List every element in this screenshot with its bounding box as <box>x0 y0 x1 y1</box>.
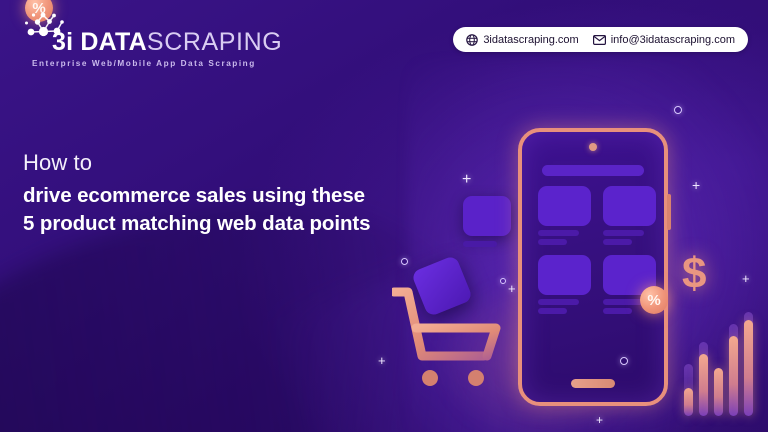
headline-main: drive ecommerce sales using these 5 prod… <box>23 182 463 238</box>
phone-search-bar <box>542 165 644 176</box>
sparkle-plus-icon: + <box>378 354 386 367</box>
contact-website-text: 3idatascraping.com <box>483 34 578 46</box>
brand-tagline: Enterprise Web/Mobile App Data Scraping <box>32 59 256 69</box>
headline-prefix: How to <box>23 148 463 178</box>
shopping-cart-icon <box>392 282 504 405</box>
chart-bar <box>684 388 693 416</box>
chart-bar <box>714 368 723 416</box>
product-title-line <box>538 230 579 236</box>
sparkle-ring-icon <box>674 106 682 114</box>
phone-side-button <box>667 194 671 230</box>
product-thumb <box>538 255 591 295</box>
contact-pill: 3idatascraping.com info@3idatascraping.c… <box>453 27 748 52</box>
smartphone-mockup <box>518 128 668 406</box>
product-price-line <box>603 308 632 314</box>
contact-email[interactable]: info@3idatascraping.com <box>593 34 735 46</box>
brand-wordmark: 3i DATASCRAPING <box>52 29 282 56</box>
sparkle-plus-icon: + <box>692 178 700 192</box>
brand-wordmark-light: SCRAPING <box>147 28 282 56</box>
product-price-line <box>603 239 632 245</box>
headline-line-1: drive ecommerce sales using these <box>23 182 463 210</box>
header: 3i DATASCRAPING Enterprise Web/Mobile Ap… <box>0 0 768 84</box>
product-card <box>538 255 591 314</box>
product-price-line <box>538 239 567 245</box>
product-card <box>538 186 591 245</box>
growth-bar-chart <box>684 308 764 416</box>
globe-icon <box>466 34 478 46</box>
headline-block: How to drive ecommerce sales using these… <box>23 148 463 238</box>
chart-bar <box>744 320 753 416</box>
sparkle-plus-icon: + <box>596 414 603 426</box>
sparkle-plus-icon: + <box>508 282 516 295</box>
brand-wordmark-bold: 3i DATA <box>52 28 147 56</box>
chart-bar <box>699 354 708 416</box>
banner: 3i DATASCRAPING Enterprise Web/Mobile Ap… <box>0 0 768 432</box>
phone-product-grid <box>538 186 656 314</box>
sparkle-plus-icon: + <box>742 272 750 285</box>
product-title-line <box>538 299 579 305</box>
contact-website[interactable]: 3idatascraping.com <box>466 34 578 46</box>
headline-line-2: 5 product matching web data points <box>23 210 463 238</box>
chart-bar <box>729 336 738 416</box>
sparkle-ring-icon <box>620 357 628 365</box>
product-thumb <box>603 186 656 226</box>
sparkle-ring-icon <box>500 278 506 284</box>
product-price-line <box>538 308 567 314</box>
floating-card-thumb <box>463 196 511 236</box>
floating-discount-card <box>463 196 511 248</box>
envelope-icon <box>593 35 606 45</box>
sparkle-plus-icon: + <box>462 172 471 188</box>
phone-camera-dot <box>589 143 597 151</box>
dollar-sign-icon: $ <box>682 252 706 296</box>
product-thumb <box>538 186 591 226</box>
product-card <box>603 186 656 245</box>
percent-badge-phone: % <box>640 286 668 314</box>
brand-logo[interactable]: 3i DATASCRAPING Enterprise Web/Mobile Ap… <box>24 11 290 73</box>
floating-card-line <box>463 241 497 247</box>
product-title-line <box>603 299 644 305</box>
phone-home-indicator <box>571 379 615 388</box>
product-title-line <box>603 230 644 236</box>
sparkle-ring-icon <box>401 258 408 265</box>
contact-email-text: info@3idatascraping.com <box>611 34 735 46</box>
